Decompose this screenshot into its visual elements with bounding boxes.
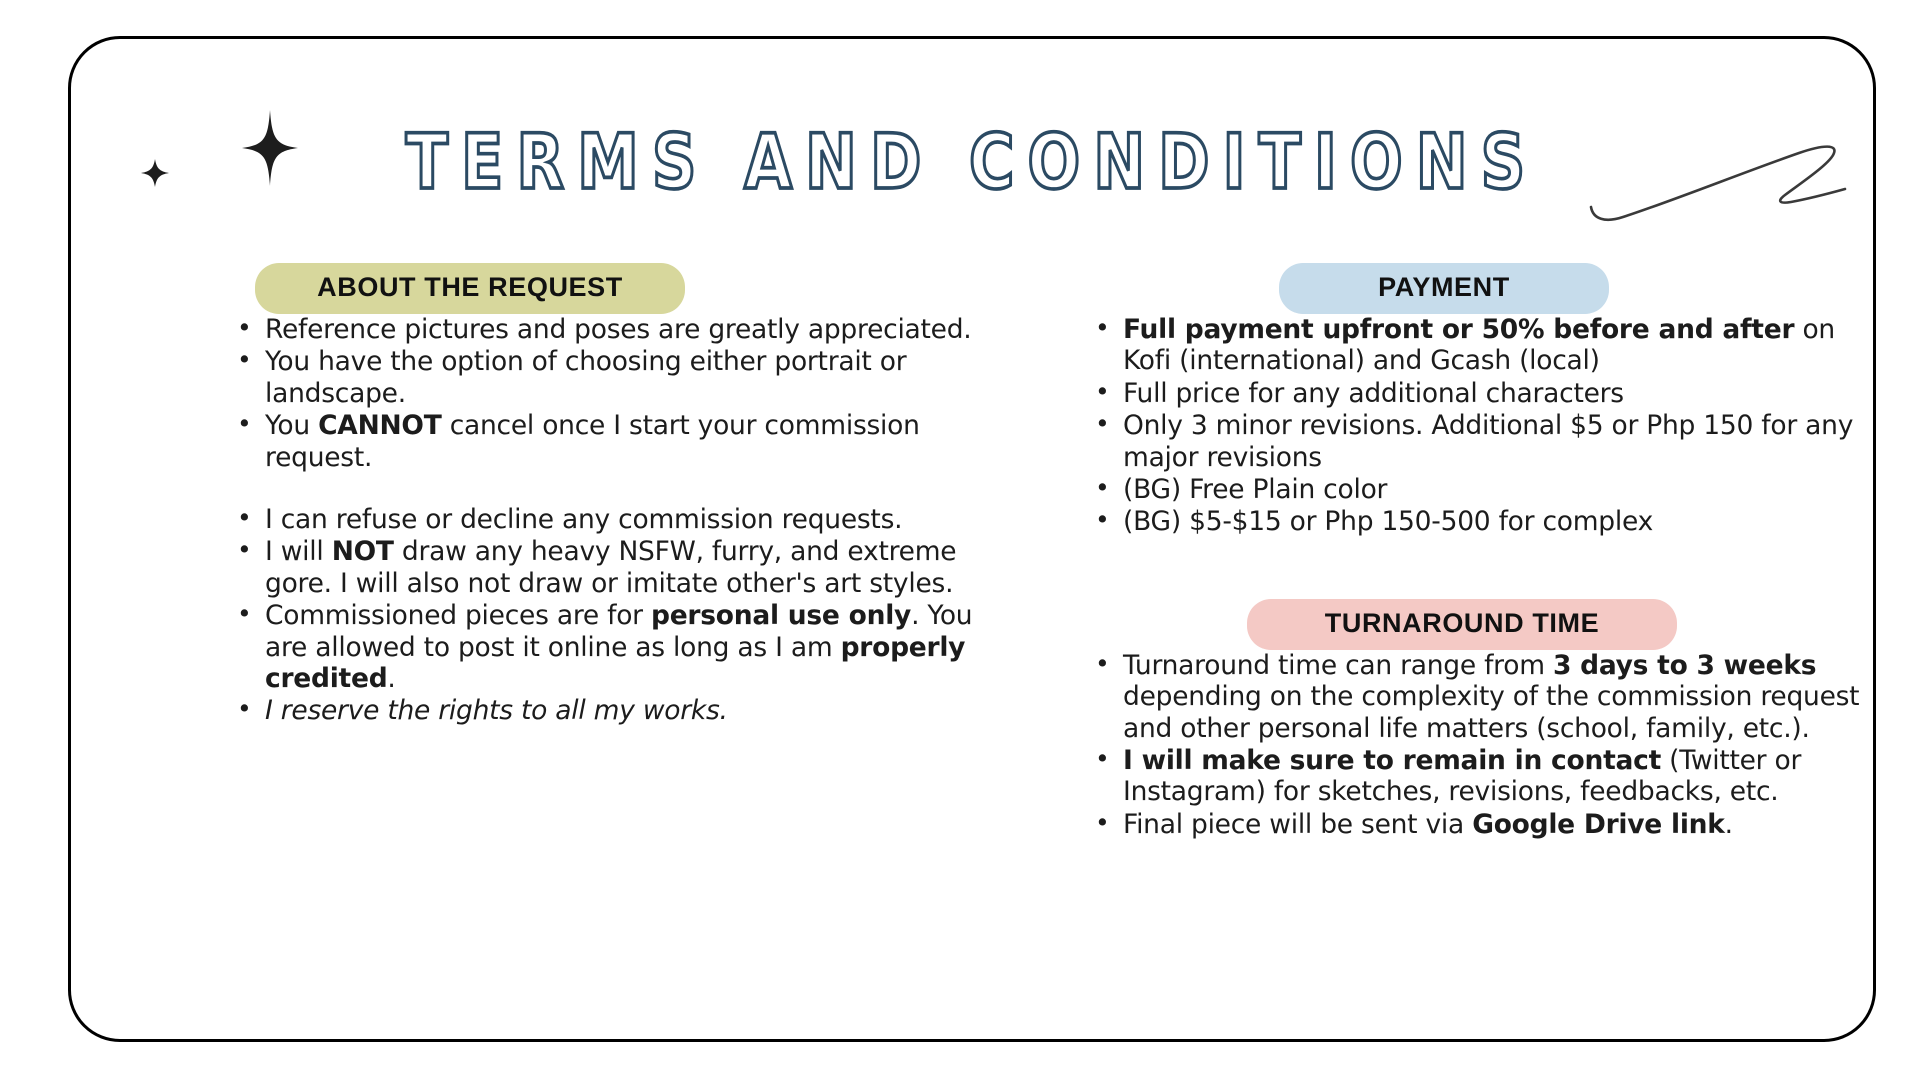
list-item: Reference pictures and poses are greatly… <box>231 314 1021 345</box>
terms-and-conditions-page: TERMS AND CONDITIONS ABOUT THE REQUEST R… <box>0 0 1920 1080</box>
column-about: ABOUT THE REQUEST Reference pictures and… <box>231 263 1021 728</box>
list-item: (BG) Free Plain color <box>1089 474 1889 505</box>
list-item: Commissioned pieces are for personal use… <box>231 600 1021 694</box>
list-spacer <box>231 474 1021 504</box>
squiggle-flourish-icon <box>1587 131 1857 227</box>
about-list-group-one: Reference pictures and poses are greatly… <box>231 314 1021 473</box>
list-item: Full price for any additional characters <box>1089 378 1889 409</box>
section-spacer <box>1089 539 1889 599</box>
column-payment-turnaround: PAYMENT Full payment upfront or 50% befo… <box>1089 263 1889 841</box>
turnaround-list: Turnaround time can range from 3 days to… <box>1089 650 1889 840</box>
list-item: Final piece will be sent via Google Driv… <box>1089 809 1889 840</box>
list-item: Only 3 minor revisions. Additional $5 or… <box>1089 410 1889 473</box>
turnaround-header-row: TURNAROUND TIME <box>1089 599 1889 650</box>
payment-header-row: PAYMENT <box>1089 263 1889 314</box>
list-item: I will make sure to remain in contact (T… <box>1089 745 1889 808</box>
list-item: I will NOT draw any heavy NSFW, furry, a… <box>231 536 1021 599</box>
list-item: (BG) $5-$15 or Php 150-500 for complex <box>1089 506 1889 537</box>
list-item: I reserve the rights to all my works. <box>231 695 1021 726</box>
list-item: You CANNOT cancel once I start your comm… <box>231 410 1021 473</box>
terms-card: TERMS AND CONDITIONS ABOUT THE REQUEST R… <box>68 36 1876 1042</box>
about-list-group-two: I can refuse or decline any commission r… <box>231 504 1021 727</box>
section-header-payment: PAYMENT <box>1279 263 1609 314</box>
payment-list: Full payment upfront or 50% before and a… <box>1089 314 1889 538</box>
list-item: Full payment upfront or 50% before and a… <box>1089 314 1889 377</box>
list-item: You have the option of choosing either p… <box>231 346 1021 409</box>
section-header-about: ABOUT THE REQUEST <box>255 263 685 314</box>
about-header-row: ABOUT THE REQUEST <box>231 263 1021 314</box>
list-item: I can refuse or decline any commission r… <box>231 504 1021 535</box>
list-item: Turnaround time can range from 3 days to… <box>1089 650 1889 744</box>
section-header-turnaround: TURNAROUND TIME <box>1247 599 1677 650</box>
